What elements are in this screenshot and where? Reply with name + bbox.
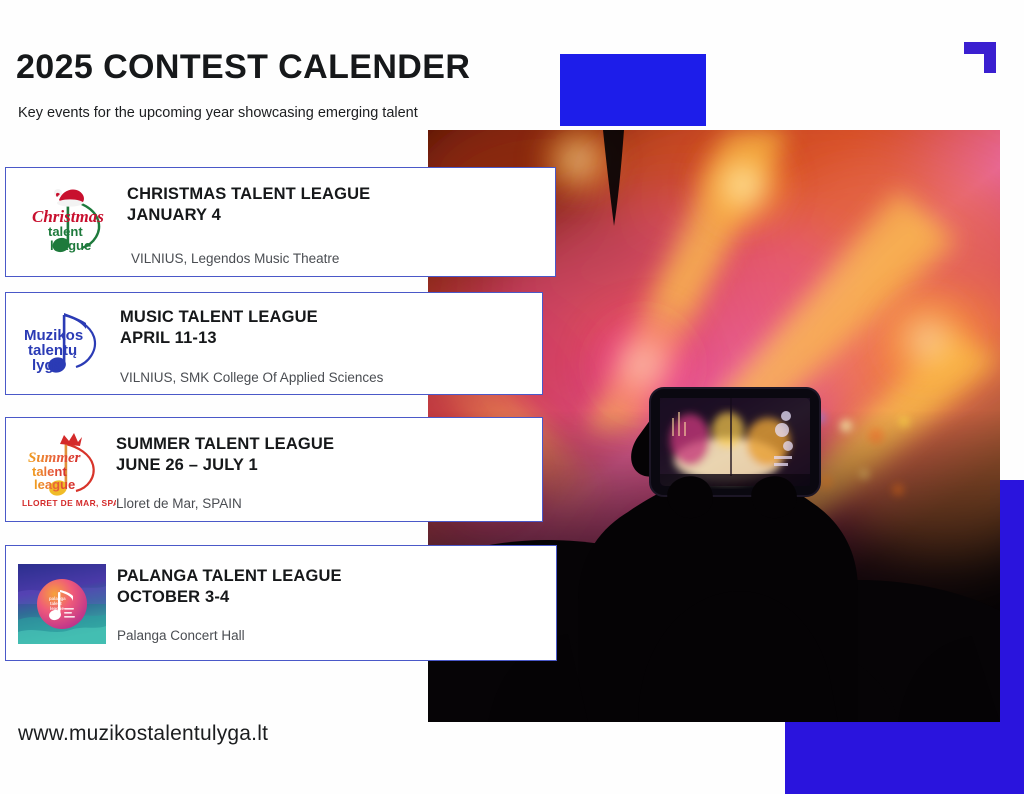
event-card-music[interactable]: Muzikos talentų lyga MUSIC TALENT LEAGUE… bbox=[5, 292, 543, 395]
page-title: 2025 CONTEST CALENDER bbox=[16, 48, 470, 87]
christmas-talent-league-logo: Christmas talent league bbox=[24, 186, 120, 262]
svg-text:league: league bbox=[50, 606, 64, 611]
event-text-block: CHRISTMAS TALENT LEAGUE JANUARY 4 VILNIU… bbox=[127, 184, 370, 266]
event-date: OCTOBER 3-4 bbox=[117, 587, 342, 608]
event-title: MUSIC TALENT LEAGUE bbox=[120, 307, 383, 328]
event-text-block: MUSIC TALENT LEAGUE APRIL 11-13 VILNIUS,… bbox=[120, 307, 383, 385]
event-text-block: PALANGA TALENT LEAGUE OCTOBER 3-4 Palang… bbox=[117, 566, 342, 643]
svg-text:talent: talent bbox=[48, 224, 83, 239]
event-date: JANUARY 4 bbox=[127, 205, 370, 226]
slide-canvas: 2025 CONTEST CALENDER Key events for the… bbox=[0, 0, 1024, 794]
event-date: JUNE 26 – JULY 1 bbox=[116, 455, 334, 476]
svg-text:lyga: lyga bbox=[32, 357, 63, 374]
event-card-christmas[interactable]: Christmas talent league CHRISTMAS TALENT… bbox=[5, 167, 556, 277]
decorative-blue-corner-bracket-icon bbox=[964, 42, 996, 73]
svg-text:league: league bbox=[34, 477, 75, 492]
event-venue: Lloret de Mar, SPAIN bbox=[116, 496, 334, 511]
event-venue: Palanga Concert Hall bbox=[117, 628, 342, 643]
page-subtitle: Key events for the upcoming year showcas… bbox=[18, 105, 418, 121]
event-title: SUMMER TALENT LEAGUE bbox=[116, 434, 334, 455]
event-card-palanga[interactable]: palanga talent league PALANGA TALENT LEA… bbox=[5, 545, 557, 661]
music-talent-league-logo: Muzikos talentų lyga bbox=[18, 307, 114, 383]
event-venue: VILNIUS, SMK College Of Applied Sciences bbox=[120, 370, 383, 385]
summer-talent-league-logo: Summer talent league LLORET DE MAR, SPAI… bbox=[16, 428, 116, 512]
svg-text:league: league bbox=[50, 238, 91, 253]
event-card-summer[interactable]: Summer talent league LLORET DE MAR, SPAI… bbox=[5, 417, 543, 522]
event-date: APRIL 11-13 bbox=[120, 328, 383, 349]
event-title: PALANGA TALENT LEAGUE bbox=[117, 566, 342, 587]
decorative-blue-rectangle-top bbox=[560, 54, 706, 126]
event-venue: VILNIUS, Legendos Music Theatre bbox=[131, 251, 370, 266]
palanga-talent-league-logo: palanga talent league bbox=[18, 564, 106, 644]
event-title: CHRISTMAS TALENT LEAGUE bbox=[127, 184, 370, 205]
event-text-block: SUMMER TALENT LEAGUE JUNE 26 – JULY 1 Ll… bbox=[116, 434, 334, 511]
footer-website-url[interactable]: www.muzikostalentulyga.lt bbox=[18, 722, 268, 746]
summer-logo-caption: LLORET DE MAR, SPAIN bbox=[22, 498, 116, 508]
